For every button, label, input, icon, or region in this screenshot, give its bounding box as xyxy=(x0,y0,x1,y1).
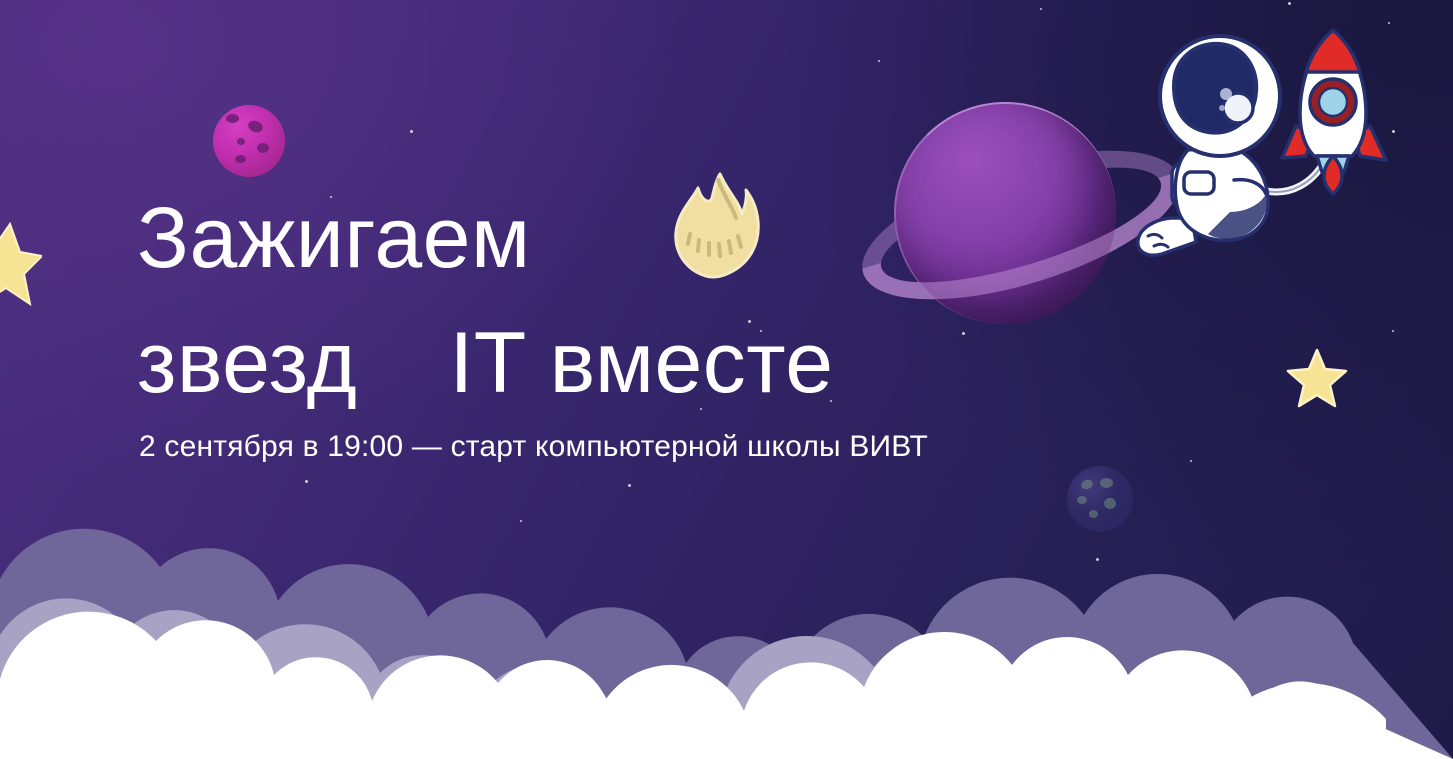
crater xyxy=(235,155,246,163)
star-dot xyxy=(410,130,413,133)
rocket-icon xyxy=(1282,30,1386,194)
star-dot xyxy=(878,60,880,62)
page-title: Зажигаем звездIT вместе xyxy=(137,176,1137,426)
star-dot xyxy=(1040,8,1042,10)
headline-line-1: Зажигаем xyxy=(137,176,1137,301)
crater xyxy=(226,114,239,123)
headline-word-it-vmeste: IT вместе xyxy=(449,315,833,411)
crater xyxy=(237,138,245,145)
event-subtitle: 2 сентября в 19:00 — старт компьютерной … xyxy=(139,430,928,464)
astronaut-with-rocket xyxy=(1110,22,1400,292)
star-dot xyxy=(1288,2,1291,5)
headline-word-zvezd: звезд xyxy=(137,315,357,411)
star-dot xyxy=(1392,330,1394,332)
crater xyxy=(257,143,269,153)
yellow-star-left-icon xyxy=(0,222,42,308)
headline-line-2: звездIT вместе xyxy=(137,301,1137,426)
yellow-star-right-icon xyxy=(1286,348,1348,408)
promo-banner: Зажигаем звездIT вместе 2 сентября в 19:… xyxy=(0,0,1453,759)
cloud-layers xyxy=(0,469,1453,759)
astronaut-icon xyxy=(1138,36,1280,255)
crater xyxy=(247,119,265,134)
planet-pink xyxy=(213,105,285,177)
star-dot xyxy=(1190,460,1192,462)
